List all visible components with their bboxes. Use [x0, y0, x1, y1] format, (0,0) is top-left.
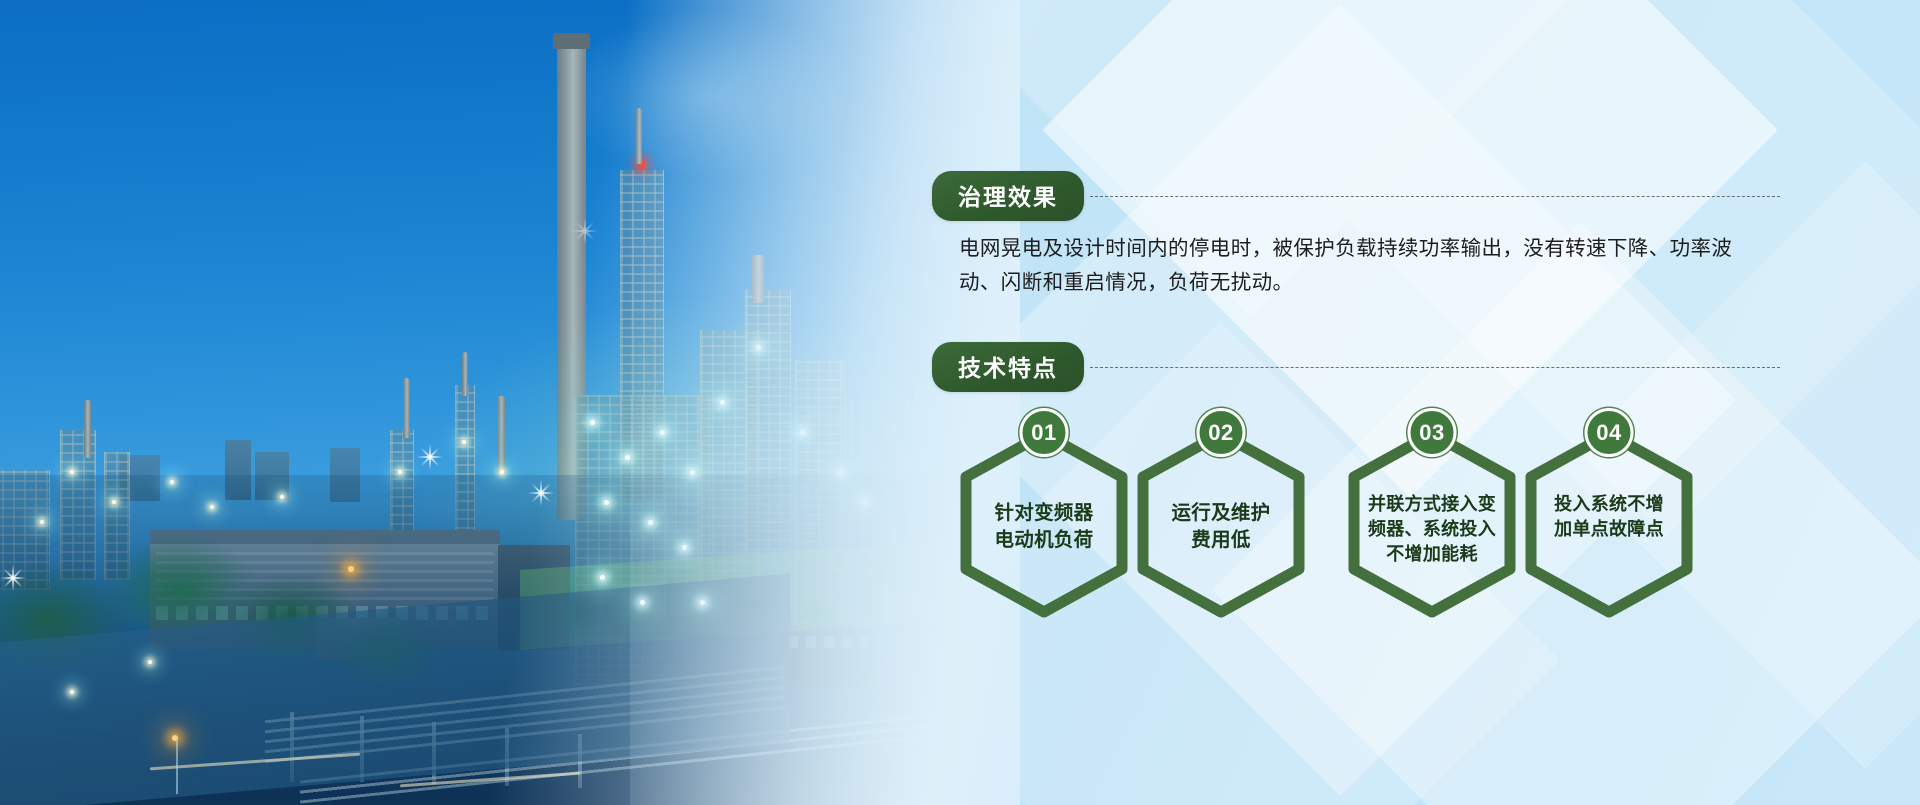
feature-hexagon-row: 01 针对变频器 电动机负荷 02 运行及维护 费用低 03 并联方式接入变 频… — [955, 408, 1715, 638]
feature-number-badge: 01 — [1020, 408, 1069, 457]
feature-label: 运行及维护 费用低 — [1132, 500, 1310, 554]
section-header-governance-effect: 治理效果 — [932, 171, 1780, 221]
badge-governance-effect: 治理效果 — [932, 171, 1084, 221]
photo-to-panel-fade — [0, 0, 1020, 805]
feature-label: 针对变频器 电动机负荷 — [955, 500, 1133, 554]
feature-number-badge: 04 — [1585, 408, 1634, 457]
feature-label: 并联方式接入变 频器、系统投入 不增加能耗 — [1343, 492, 1521, 567]
feature-card-03[interactable]: 03 并联方式接入变 频器、系统投入 不增加能耗 — [1343, 408, 1521, 620]
feature-label: 投入系统不增 加单点故障点 — [1520, 492, 1698, 542]
feature-number-badge: 03 — [1408, 408, 1457, 457]
badge-technical-features: 技术特点 — [932, 342, 1084, 392]
feature-card-02[interactable]: 02 运行及维护 费用低 — [1132, 408, 1310, 620]
header-dashed-line — [1090, 367, 1780, 368]
feature-card-04[interactable]: 04 投入系统不增 加单点故障点 — [1520, 408, 1698, 620]
feature-card-01[interactable]: 01 针对变频器 电动机负荷 — [955, 408, 1133, 620]
feature-number-badge: 02 — [1197, 408, 1246, 457]
banner-root: 治理效果 电网晃电及设计时间内的停电时，被保护负载持续功率输出，没有转速下降、功… — [0, 0, 1920, 805]
governance-effect-paragraph: 电网晃电及设计时间内的停电时，被保护负载持续功率输出，没有转速下降、功率波动、闪… — [959, 232, 1771, 300]
industrial-refinery-night-photo — [0, 0, 1020, 805]
header-dashed-line — [1090, 196, 1780, 197]
section-header-technical-features: 技术特点 — [932, 342, 1780, 392]
